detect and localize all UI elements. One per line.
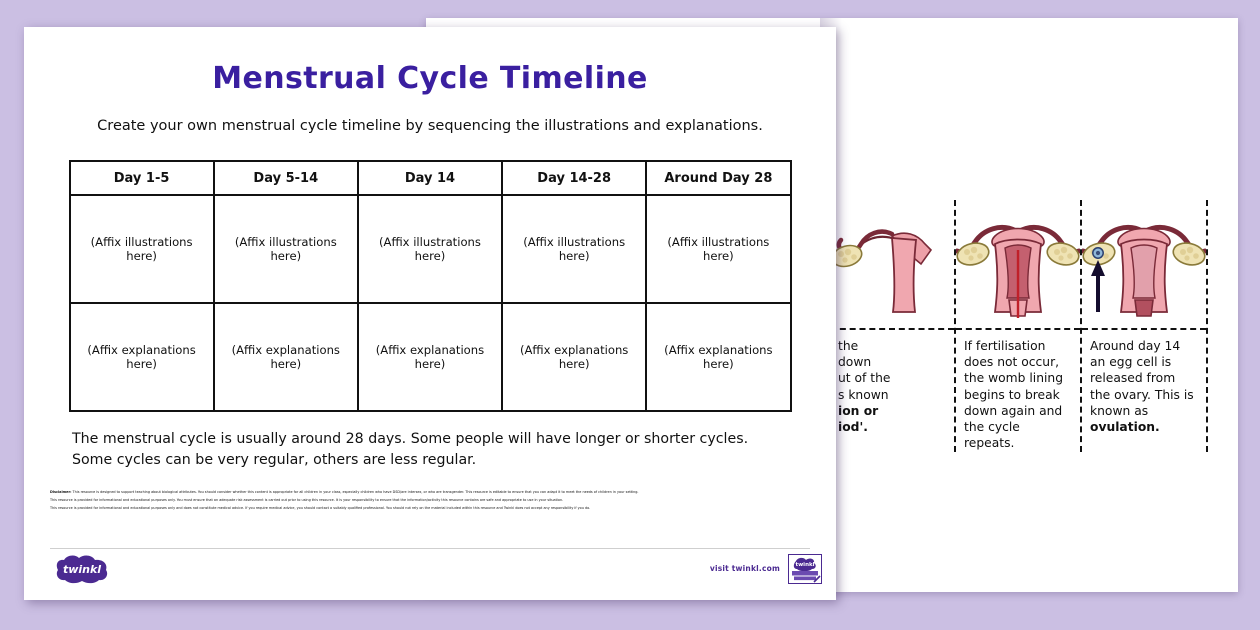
- uterus-illustration-menstruation: [956, 200, 1080, 330]
- uterus-illustration-partial: [830, 200, 954, 330]
- explanation-slot-5[interactable]: (Affix explanations here): [646, 303, 790, 411]
- twinkl-logo-text: twinkl: [63, 563, 101, 576]
- cut-out-card-strip: the down ut of the s known ion or iod'.: [828, 200, 1208, 452]
- cut-out-card-ovulation[interactable]: Around day 14 an egg cell is released fr…: [1082, 200, 1208, 452]
- up-arrow-icon: [1091, 260, 1105, 312]
- explanation-slot-2[interactable]: (Affix explanations here): [214, 303, 358, 411]
- menstrual-cycle-timeline-table: Day 1-5 Day 5-14 Day 14 Day 14-28 Around…: [69, 160, 792, 412]
- uterus-diagram-icon: [956, 204, 1080, 326]
- page-footer: twinkl visit twinkl.com twinkl: [24, 548, 836, 600]
- illustration-slot-3[interactable]: (Affix illustrations here): [358, 195, 502, 303]
- illustration-slot-4[interactable]: (Affix illustrations here): [502, 195, 646, 303]
- disclaimer-label: Disclaimer:: [50, 490, 71, 494]
- table-header-around-day-28: Around Day 28: [646, 161, 790, 195]
- footer-divider: [50, 548, 810, 549]
- cut-out-card-fertilisation[interactable]: If fertilisation does not occur, the wom…: [956, 200, 1082, 452]
- table-row-explanations: (Affix explanations here) (Affix explana…: [70, 303, 791, 411]
- uterus-diagram-icon: [1082, 204, 1206, 326]
- twinkl-cloud-icon: twinkl: [51, 554, 113, 584]
- visit-twinkl-link[interactable]: visit twinkl.com: [710, 564, 780, 573]
- front-worksheet-page[interactable]: Menstrual Cycle Timeline Create your own…: [24, 27, 836, 600]
- closing-note-line-1: The menstrual cycle is usually around 28…: [72, 429, 772, 450]
- table-row-illustrations: (Affix illustrations here) (Affix illust…: [70, 195, 791, 303]
- disclaimer-paragraph-2: This resource is provided for informatio…: [50, 498, 820, 503]
- illustration-slot-2[interactable]: (Affix illustrations here): [214, 195, 358, 303]
- table-header-row: Day 1-5 Day 5-14 Day 14 Day 14-28 Around…: [70, 161, 791, 195]
- uterus-diagram-icon: [830, 204, 954, 326]
- disclaimer-paragraph-1: Disclaimer: This resource is designed to…: [50, 490, 820, 495]
- disclaimer-paragraph-3: This resource is provided for informatio…: [50, 506, 820, 511]
- disclaimer-block: Disclaimer: This resource is designed to…: [50, 490, 820, 514]
- twinkl-logo[interactable]: twinkl: [51, 554, 113, 584]
- badge-logo-text: twinkl: [795, 562, 814, 568]
- disclaimer-text-1: This resource is designed to support tea…: [71, 490, 638, 494]
- closing-note: The menstrual cycle is usually around 28…: [72, 429, 772, 472]
- page-subtitle: Create your own menstrual cycle timeline…: [24, 118, 836, 134]
- cut-out-card-partial-left[interactable]: the down ut of the s known ion or iod'.: [828, 200, 956, 452]
- table-header-day-5-14: Day 5-14: [214, 161, 358, 195]
- card-text-partial: the down ut of the s known ion or iod'.: [830, 330, 954, 441]
- illustration-slot-5[interactable]: (Affix illustrations here): [646, 195, 790, 303]
- closing-note-line-2: Some cycles can be very regular, others …: [72, 450, 772, 471]
- twinkl-badge-icon: twinkl: [788, 554, 822, 584]
- table-header-day-14: Day 14: [358, 161, 502, 195]
- card-text-fertilisation: If fertilisation does not occur, the wom…: [956, 330, 1080, 458]
- table-header-day-14-28: Day 14-28: [502, 161, 646, 195]
- explanation-slot-1[interactable]: (Affix explanations here): [70, 303, 214, 411]
- explanation-slot-4[interactable]: (Affix explanations here): [502, 303, 646, 411]
- illustration-slot-1[interactable]: (Affix illustrations here): [70, 195, 214, 303]
- uterus-illustration-ovulation: [1082, 200, 1206, 330]
- explanation-slot-3[interactable]: (Affix explanations here): [358, 303, 502, 411]
- twinkl-trust-badge[interactable]: twinkl: [788, 554, 822, 584]
- table-header-day-1-5: Day 1-5: [70, 161, 214, 195]
- page-title: Menstrual Cycle Timeline: [24, 61, 836, 96]
- card-text-ovulation: Around day 14 an egg cell is released fr…: [1082, 330, 1206, 441]
